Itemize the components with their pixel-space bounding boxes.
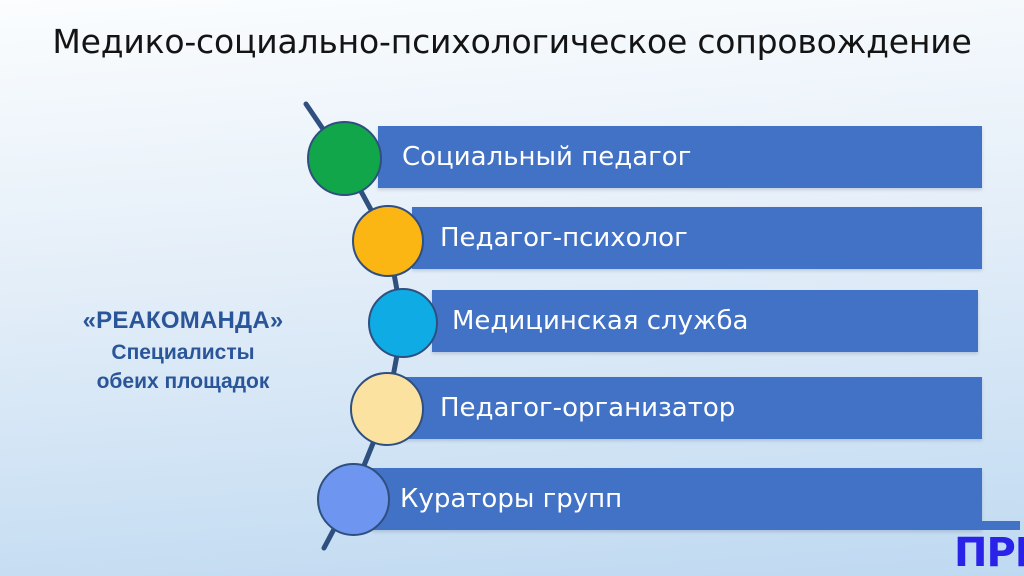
row-bar-social-pedagogue[interactable]: Социальный педагог [378, 126, 982, 188]
row-bar-pedagogue-psychologist[interactable]: Педагог-психолог [412, 207, 982, 269]
row-label: Медицинская служба [452, 306, 748, 336]
row-bar-pedagogue-organizer[interactable]: Педагог-организатор [400, 377, 982, 439]
green-node-circle-icon[interactable] [307, 121, 382, 196]
slide-canvas: Медико-социально-психологическое сопрово… [0, 0, 1024, 576]
reateam-caption-block: «РЕАКОМАНДА» Специалисты обеих площадок [38, 307, 328, 394]
row-label: Социальный педагог [402, 142, 691, 172]
periwinkle-node-circle-icon[interactable] [317, 463, 390, 536]
prc-logo: ПРЦ [954, 533, 1024, 573]
cyan-node-circle-icon[interactable] [368, 288, 438, 358]
row-bar-group-curators[interactable]: Кураторы групп [372, 468, 982, 530]
amber-node-circle-icon[interactable] [352, 205, 424, 277]
row-label: Педагог-организатор [440, 393, 735, 423]
page-title: Медико-социально-психологическое сопрово… [0, 22, 1024, 61]
caption-line-1: Специалисты [38, 340, 328, 365]
pale-yellow-node-circle-icon[interactable] [350, 372, 424, 446]
row-bar-medical-service[interactable]: Медицинская служба [432, 290, 978, 352]
caption-heading: «РЕАКОМАНДА» [38, 307, 328, 336]
caption-line-2: обеих площадок [38, 369, 328, 394]
row-label: Педагог-психолог [440, 223, 688, 253]
logo-accent-bar [952, 521, 1020, 530]
row-label: Кураторы групп [400, 484, 622, 514]
